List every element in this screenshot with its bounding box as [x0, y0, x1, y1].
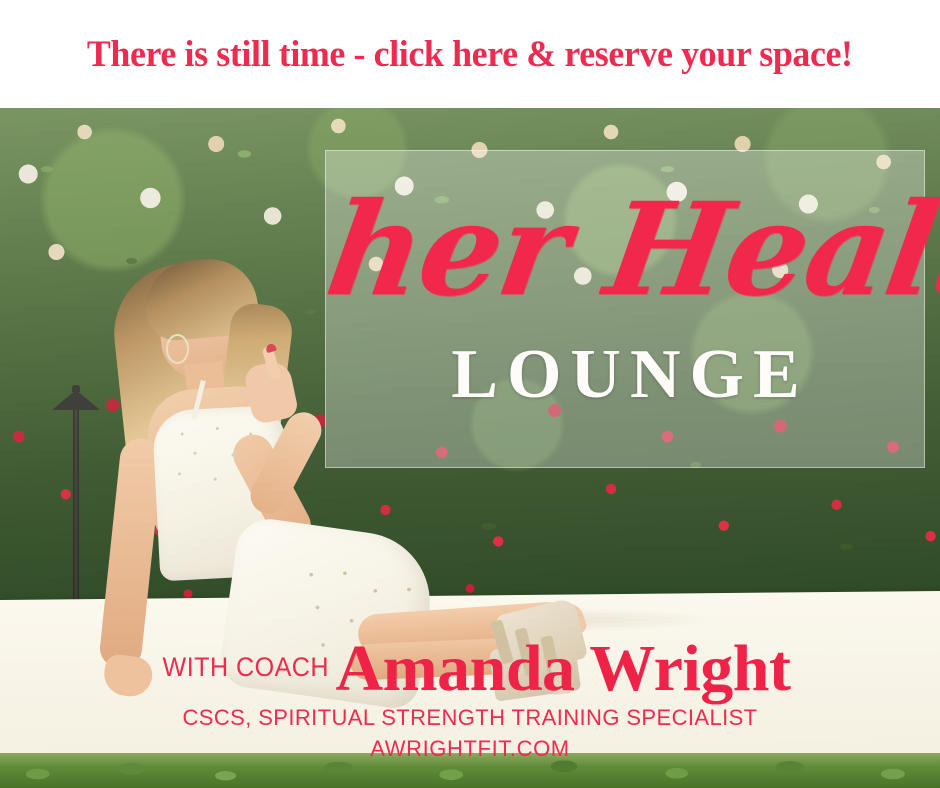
coach-name: Amanda Wright — [336, 636, 791, 702]
with-coach-label: WITH COACH — [162, 652, 328, 683]
cta-banner[interactable]: There is still time - click here & reser… — [0, 0, 940, 108]
title-her-health: her Health — [320, 186, 940, 314]
cta-banner-text[interactable]: There is still time - click here & reser… — [87, 33, 853, 76]
hero-photo: her Health LOUNGE WITH COACH Amanda Wrig… — [0, 108, 940, 788]
coach-credit-row: WITH COACH Amanda Wright — [0, 636, 940, 702]
promo-poster: There is still time - click here & reser… — [0, 0, 940, 788]
title-lounge: LOUNGE — [330, 340, 930, 410]
hoop-earring — [166, 334, 189, 364]
coach-credential: CSCS, SPIRITUAL STRENGTH TRAINING SPECIA… — [0, 705, 940, 731]
website-url[interactable]: AWRIGHTFIT.COM — [0, 736, 940, 762]
